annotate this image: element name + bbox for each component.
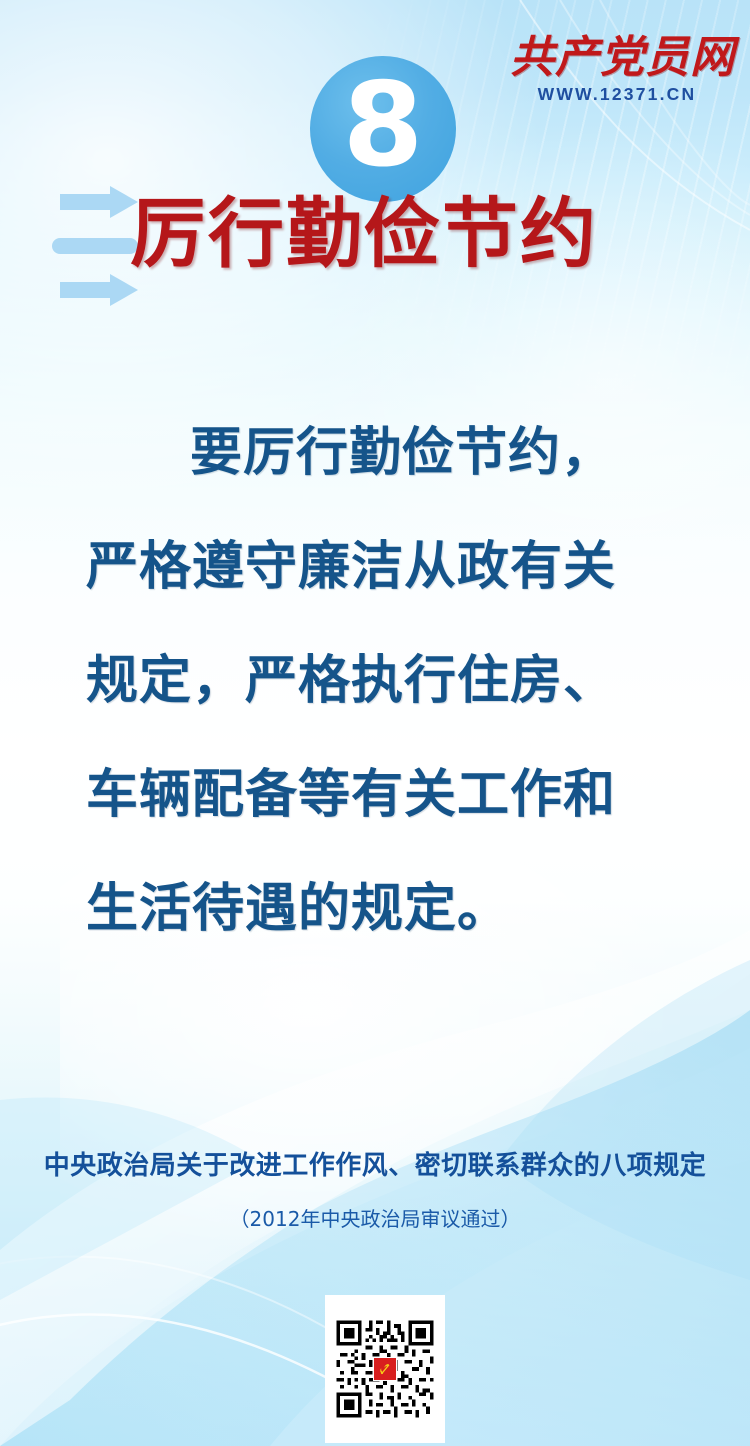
body-line-2: 严格遵守廉洁从政有关 [86, 510, 666, 624]
body-line-3: 规定，严格执行住房、 [86, 624, 666, 738]
site-logo[interactable]: 共产党员网 WWW.12371.CN [510, 36, 724, 104]
body-line-5: 生活待遇的规定。 [86, 852, 666, 966]
page-title: 厉行勤俭节约 [130, 196, 598, 272]
qr-code[interactable] [325, 1295, 445, 1443]
site-logo-name: 共产党员网 [510, 36, 724, 80]
rule-number-badge: 8 [310, 56, 456, 202]
party-emblem-icon [373, 1357, 397, 1381]
rule-number-text: 8 [343, 68, 424, 184]
body-line-1: 要厉行勤俭节约， [86, 396, 666, 510]
rule-body-text: 要厉行勤俭节约， 严格遵守廉洁从政有关 规定，严格执行住房、 车辆配备等有关工作… [86, 396, 666, 966]
poster-root: 共产党员网 WWW.12371.CN 8 厉行勤俭节约 要厉行勤俭节约， 严格遵… [0, 0, 750, 1446]
site-logo-url: WWW.12371.CN [510, 86, 724, 104]
footer-subtitle: （2012年中央政治局审议通过） [0, 1207, 750, 1231]
body-line-4: 车辆配备等有关工作和 [86, 738, 666, 852]
footer-title: 中央政治局关于改进工作作风、密切联系群众的八项规定 [0, 1150, 750, 1181]
footer: 中央政治局关于改进工作作风、密切联系群众的八项规定 （2012年中央政治局审议通… [0, 1150, 750, 1231]
